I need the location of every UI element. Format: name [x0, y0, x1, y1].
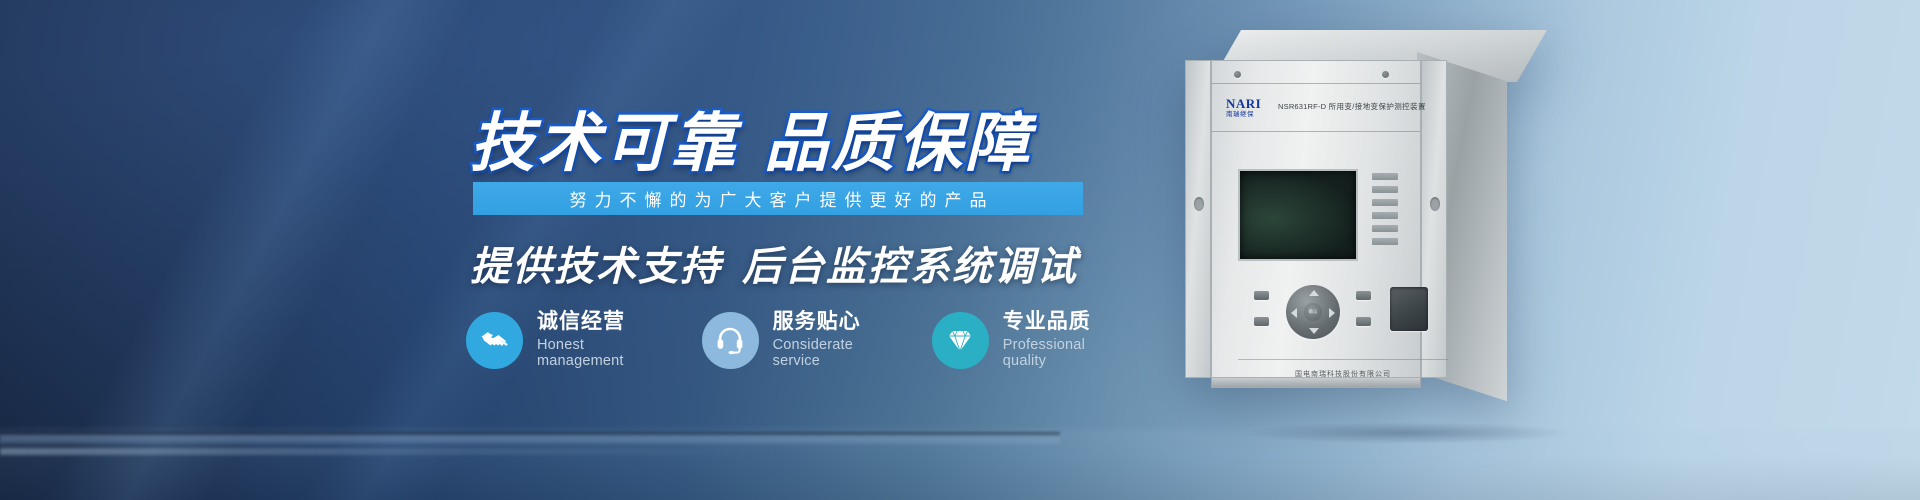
device-left-mount-ear [1185, 60, 1211, 378]
subtitle-bar: 努力不懈的为广大客户提供更好的产品 [473, 182, 1083, 215]
arrow-right-icon[interactable] [1329, 308, 1335, 318]
arrow-left-icon[interactable] [1291, 308, 1297, 318]
feature-icon-circle [466, 312, 523, 369]
diamond-icon [945, 325, 975, 355]
brand-name-cn: 南瑞继保 [1226, 112, 1261, 119]
vent-slot [1372, 186, 1398, 193]
vent-slot [1372, 238, 1398, 245]
function-button-bottom-left[interactable] [1254, 317, 1269, 326]
headline-part-1: 技术可靠 [470, 107, 738, 179]
panel-footer-line [1238, 359, 1448, 360]
device-lcd-screen[interactable] [1238, 169, 1358, 261]
mount-hole-left [1194, 197, 1204, 211]
device-brand-logo: NARI 南瑞继保 [1226, 97, 1261, 119]
feature-text: 服务贴心 Considerate service [773, 310, 884, 370]
promo-banner: 技术可靠品质保障 努力不懈的为广大客户提供更好的产品 提供技术支持后台监控系统调… [0, 0, 1920, 500]
panel-seam-top [1212, 83, 1420, 84]
device-front-panel: NARI 南瑞继保 NSR631RF-D 所用变/接地变保护测控装置 [1211, 60, 1421, 378]
feature-item-considerate-service: 服务贴心 Considerate service [702, 310, 884, 370]
feature-icon-circle [932, 312, 989, 369]
panel-seam-mid [1212, 131, 1420, 132]
confirm-button[interactable]: 确认 [1304, 303, 1322, 321]
model-number: NSR631RF-D [1278, 102, 1326, 111]
vent-slot [1372, 225, 1398, 232]
device-model-label: NSR631RF-D 所用变/接地变保护测控装置 [1278, 101, 1426, 112]
headset-icon [715, 325, 745, 355]
function-button-top-right[interactable] [1356, 291, 1371, 300]
feature-title: 诚信经营 [537, 310, 654, 334]
feature-subtitle: Honest management [537, 338, 654, 370]
feature-list: 诚信经营 Honest management [466, 310, 1160, 370]
feature-subtitle: Professional quality [1003, 338, 1112, 370]
feature-subtitle: Considerate service [773, 338, 884, 370]
feature-title: 服务贴心 [773, 310, 884, 334]
device-control-panel: 确认 [1238, 279, 1448, 351]
panel-screw-right [1382, 71, 1389, 78]
secondary-title: 提供技术支持后台监控系统调试 [470, 234, 1078, 292]
arrow-up-icon[interactable] [1309, 290, 1319, 296]
device-communication-port[interactable] [1390, 287, 1428, 331]
brand-name: NARI [1226, 97, 1261, 110]
arrow-down-icon[interactable] [1309, 328, 1319, 334]
subtitle-text: 努力不懈的为广大客户提供更好的产品 [562, 186, 995, 211]
feature-title: 专业品质 [1003, 310, 1112, 334]
secondary-title-part-1: 提供技术支持 [470, 245, 722, 289]
device-bottom-edge [1211, 378, 1421, 388]
device-vent-group [1372, 173, 1398, 251]
model-description: 所用变/接地变保护测控装置 [1329, 102, 1426, 111]
product-device: NARI 南瑞继保 NSR631RF-D 所用变/接地变保护测控装置 [1185, 30, 1605, 430]
navigation-dpad[interactable]: 确认 [1286, 285, 1340, 339]
copy-block: 技术可靠品质保障 努力不懈的为广大客户提供更好的产品 提供技术支持后台监控系统调… [0, 0, 1160, 500]
panel-screw-left [1234, 71, 1241, 78]
page-title: 技术可靠品质保障 [470, 92, 1032, 184]
function-button-top-left[interactable] [1254, 291, 1269, 300]
feature-item-honest-management: 诚信经营 Honest management [466, 310, 654, 370]
vent-slot [1372, 173, 1398, 180]
secondary-title-part-2: 后台监控系统调试 [742, 245, 1078, 289]
feature-item-professional-quality: 专业品质 Professional quality [932, 310, 1112, 370]
feature-icon-circle [702, 312, 759, 369]
function-button-bottom-right[interactable] [1356, 317, 1371, 326]
feature-text: 专业品质 Professional quality [1003, 310, 1112, 370]
vent-slot [1372, 199, 1398, 206]
handshake-icon [479, 324, 511, 356]
headline-part-2: 品质保障 [764, 107, 1032, 179]
vent-slot [1372, 212, 1398, 219]
mount-hole-right [1430, 197, 1440, 211]
feature-text: 诚信经营 Honest management [537, 310, 654, 370]
